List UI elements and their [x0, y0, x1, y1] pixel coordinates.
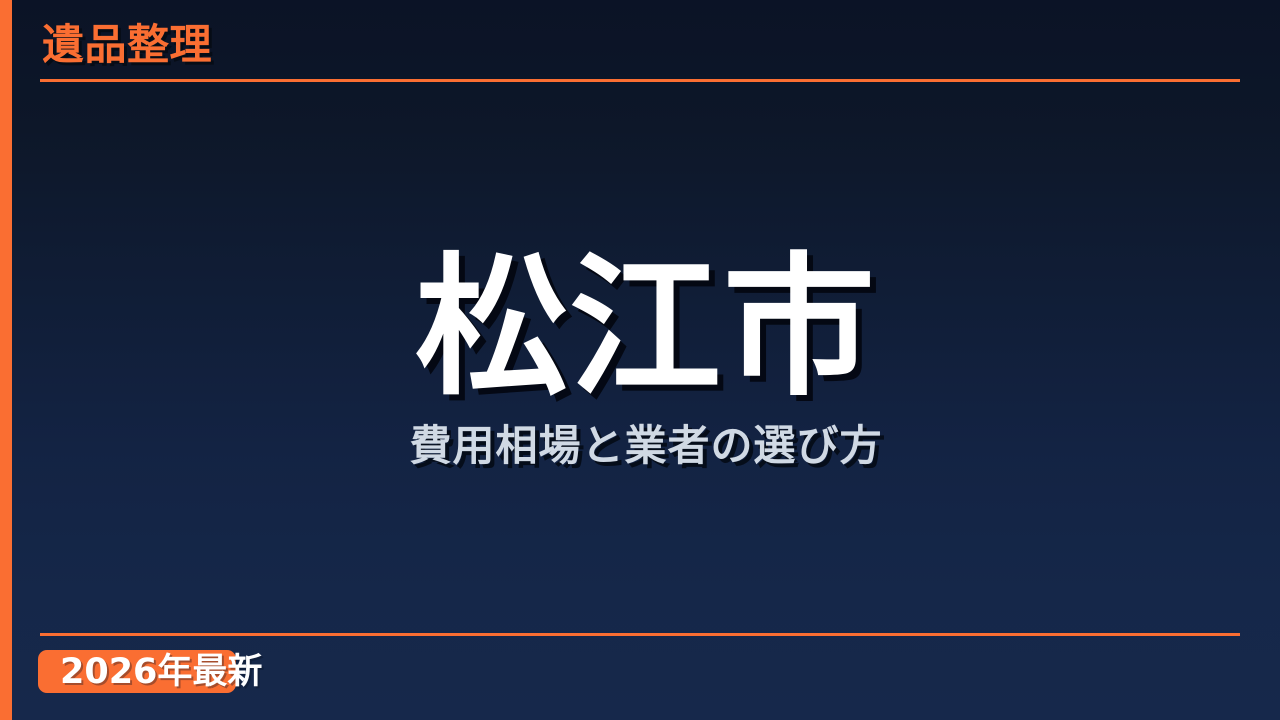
- footer-divider-rule: [40, 633, 1240, 636]
- header-category-label: 遺品整理: [42, 20, 212, 70]
- header-divider-rule: [40, 79, 1240, 82]
- main-title: 松江市: [415, 250, 877, 405]
- subtitle: 費用相場と業者の選び方: [409, 421, 882, 471]
- year-badge-label: 2026年最新: [60, 651, 262, 693]
- title-center-block: 松江市 費用相場と業者の選び方: [12, 96, 1280, 626]
- left-accent-bar: [0, 0, 12, 720]
- title-slide: 遺品整理 松江市 費用相場と業者の選び方 2026年最新: [0, 0, 1280, 720]
